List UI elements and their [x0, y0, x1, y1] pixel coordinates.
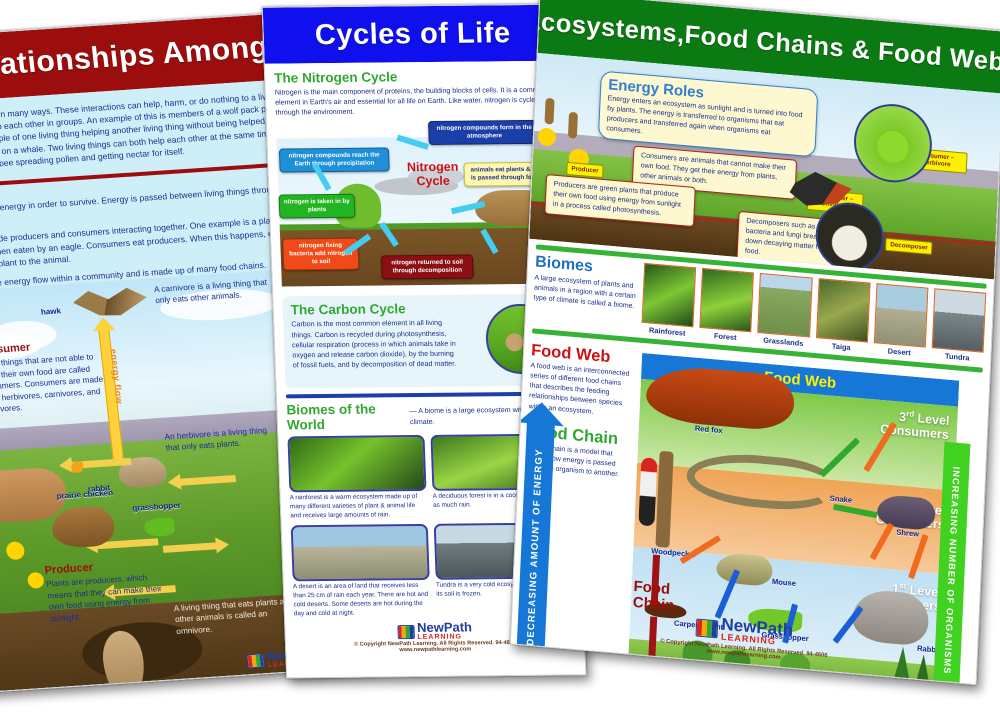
poster2-title: Cycles of Life [263, 5, 563, 64]
biome-thumb-taiga[interactable]: Taiga [815, 278, 870, 353]
callout-consumer: Consumer Living things that are not able… [0, 336, 111, 417]
tag-nitrogen-decomposition: nitrogen returned to soil through decomp… [381, 255, 474, 279]
tag-nitrogen-precipitation: nitrogen compounds reach the Earth throu… [279, 148, 390, 173]
biome-label: Desert [873, 345, 925, 359]
rainforest-caption: A rainforest is a warm ecosystem made up… [290, 493, 428, 521]
poster-ecosystems-food-chains-food-webs[interactable]: Ecosystems,Food Chains & Food Webs Energ… [510, 0, 1000, 685]
biomes-heading: Biomes of the World [286, 402, 407, 433]
increasing-organisms-label: INCREASING NUMBER OF ORGANISMS [942, 466, 961, 675]
biome-desert[interactable]: A desert is an area of land that receive… [291, 524, 431, 619]
desert-thumbnail [874, 283, 929, 347]
nitrogen-cycle-diagram: nitrogen compounds form in the atmospher… [276, 118, 562, 291]
food-chain-banner: Food Chain [632, 579, 675, 614]
decreasing-energy-label: DECREASING AMOUNT OF ENERGY [525, 448, 545, 646]
rainforest-photo [287, 435, 426, 492]
callout-producer-text: Plants are producers, which means that t… [46, 573, 162, 623]
forest-thumbnail [700, 268, 755, 332]
decomposers-strip: Fungi Worms Bacteri [623, 683, 944, 684]
callout-omnivore-text: A living thing that eats plants and othe… [173, 596, 294, 636]
biome-label: Grasslands [757, 335, 809, 349]
desert-photo [291, 524, 430, 581]
brand-name: NewPath [417, 622, 472, 635]
label-grass: Grass [779, 674, 801, 684]
nitrogen-cycle-heading: The Nitrogen Cycle [274, 68, 555, 86]
label-shrew: Shrew [896, 528, 919, 539]
tundra-thumbnail [932, 288, 987, 352]
cattail-illustration [544, 98, 554, 125]
biome-rainforest[interactable]: A rainforest is a warm ecosystem made up… [287, 435, 427, 521]
biome-thumb-desert[interactable]: Desert [873, 283, 928, 358]
grasshopper-illustration [144, 517, 176, 537]
callout-consumer-text: Living things that are not able to make … [0, 353, 104, 415]
biome-thumb-rainforest[interactable]: Rainforest [641, 263, 696, 338]
woodpecker-illustration [638, 457, 657, 526]
desert-caption: A desert is an area of land that receive… [293, 582, 431, 619]
producers-text: Producers are green plants that produce … [553, 180, 688, 221]
label-snake: Snake [830, 494, 853, 505]
callout-producer: Producer Plants are producers, which mea… [44, 556, 171, 625]
book-icon [247, 654, 266, 669]
biome-label: Rainforest [641, 325, 693, 339]
biome-thumbnail-row: Rainforest Forest Grasslands Taiga [641, 263, 986, 364]
nitrogen-cycle-body: Nitrogen is the main component of protei… [275, 85, 556, 118]
biome-label: Tundra [931, 350, 983, 364]
tag-nitrogen-plants: nitrogen is taken in by plants [279, 194, 356, 218]
biome-label: Forest [699, 330, 751, 344]
cattail-illustration [568, 112, 578, 139]
biomes-text: A large ecosystem of plants and animals … [533, 273, 638, 312]
tag-nitrogen-atmosphere: nitrogen compounds form in the atmospher… [428, 120, 541, 145]
nitrogen-cycle-center-label: Nitrogen Cycle [397, 161, 468, 189]
biome-thumb-tundra[interactable]: Tundra [931, 288, 986, 363]
biome-thumb-grasslands[interactable]: Grasslands [757, 273, 812, 348]
poster3-body: Energy Roles Energy enters an ecosystem … [511, 53, 1000, 684]
rainforest-thumbnail [642, 263, 697, 327]
poster-set-photo: Relationships Among Living things intera… [0, 0, 1000, 713]
carbon-cycle-body: Carbon is the most common element in all… [291, 318, 461, 370]
biome-label: Taiga [815, 340, 867, 354]
book-icon [397, 625, 415, 639]
grasslands-thumbnail [758, 273, 813, 337]
book-icon [696, 618, 719, 638]
biome-thumb-forest[interactable]: Forest [699, 268, 754, 343]
label-hawk: hawk [40, 306, 61, 316]
label-trees: Trees [674, 663, 694, 674]
taiga-thumbnail [816, 278, 871, 342]
